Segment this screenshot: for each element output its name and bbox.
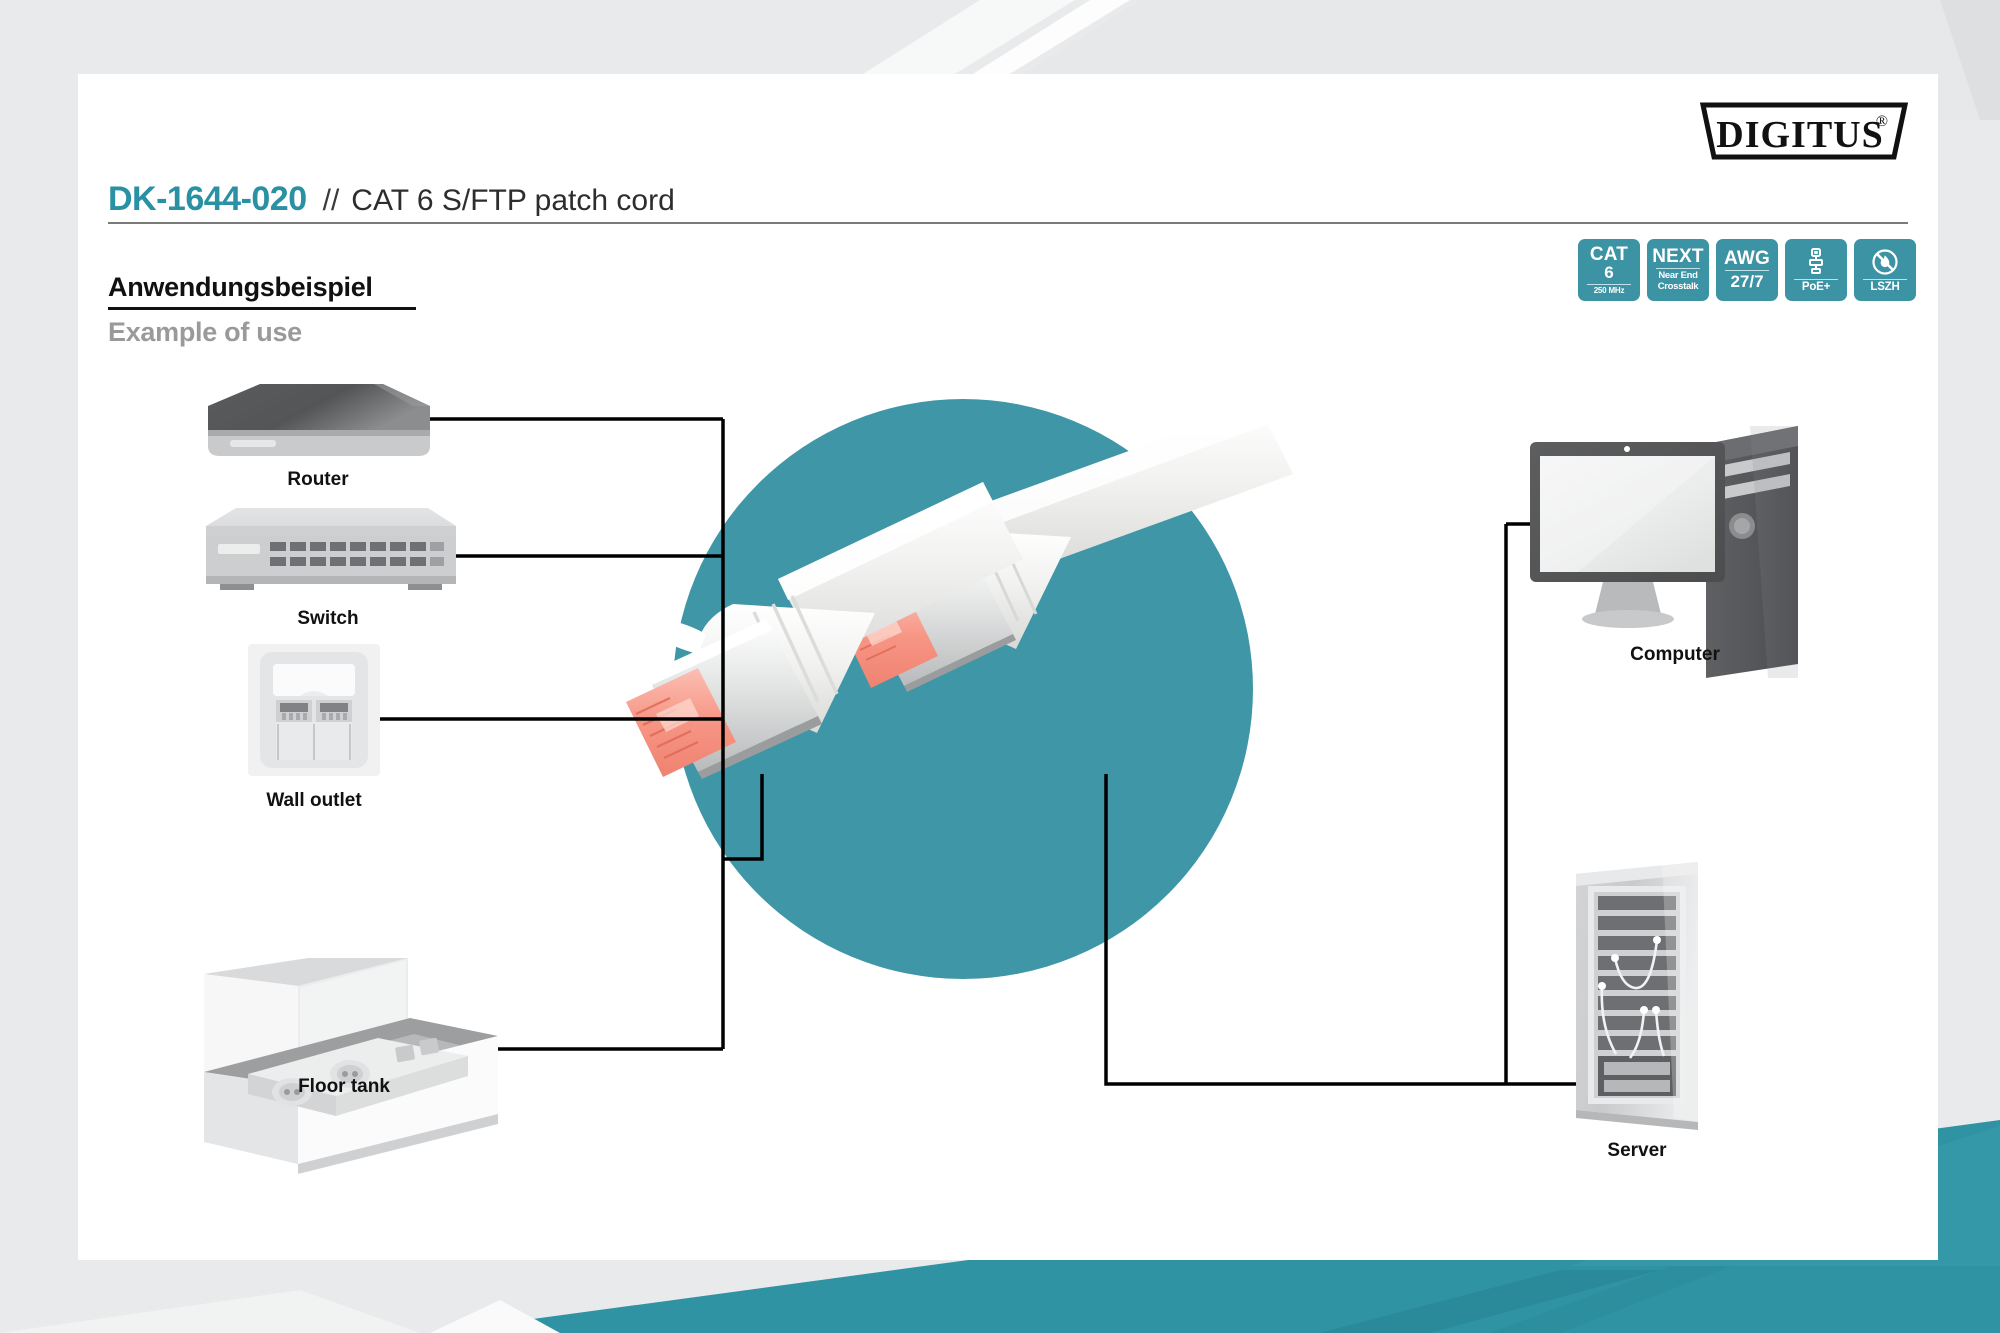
floor-tank-label: Floor tank: [274, 1076, 414, 1098]
server-graphic: [1576, 862, 1698, 1130]
computer-label: Computer: [1605, 644, 1745, 666]
wall-outlet-label: Wall outlet: [244, 790, 384, 812]
server-label: Server: [1572, 1140, 1702, 1162]
router-label: Router: [258, 469, 378, 491]
switch-label: Switch: [268, 608, 388, 630]
wall-outlet-graphic: [248, 644, 380, 776]
computer-graphic: [1530, 426, 1798, 678]
switch-graphic: [206, 508, 456, 590]
datasheet-page: DIGITUS ® DK-1644-020//CAT 6 S/FTP patch…: [0, 0, 2000, 1333]
floor-tank-graphic: [204, 958, 498, 1174]
router-graphic: [208, 384, 430, 456]
application-diagram: Router Switch Wall outlet Floor tank Com…: [78, 74, 1938, 1260]
